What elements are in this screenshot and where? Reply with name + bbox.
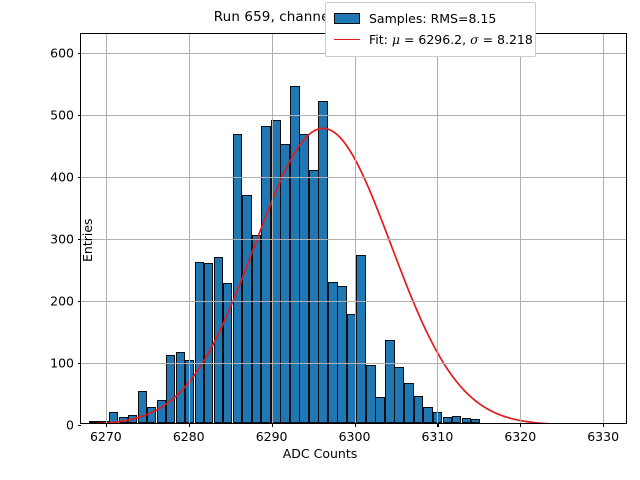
gridline-vertical (272, 34, 273, 423)
legend-swatch-samples-icon (334, 13, 360, 24)
legend-swatch-fit-icon (334, 39, 360, 40)
legend-label-fit: Fit: μ = 6296.2, σ = 8.218 (369, 32, 533, 47)
x-axis-tick (355, 423, 356, 427)
gridline-vertical (520, 34, 521, 423)
gridline-vertical (106, 34, 107, 423)
plot-area: Entries 01002003004005006006270628062906… (80, 33, 627, 424)
x-axis-tick (520, 423, 521, 427)
x-axis-tick (189, 423, 190, 427)
gridline-horizontal (81, 115, 626, 116)
y-axis-tick (78, 301, 82, 302)
x-axis-tick-label: 6290 (256, 429, 288, 444)
gridline-vertical (603, 34, 604, 423)
y-axis-tick-label: 300 (50, 231, 74, 246)
gridline-vertical (437, 34, 438, 423)
gridline-horizontal (81, 363, 626, 364)
y-axis-tick-label: 0 (66, 418, 74, 433)
y-axis-tick-label: 600 (50, 45, 74, 60)
y-axis-tick (78, 239, 82, 240)
matplotlib-figure: Run 659, channel011, Pedestal Entries 01… (0, 0, 640, 480)
x-axis-tick-label: 6310 (421, 429, 453, 444)
x-axis-tick (106, 423, 107, 427)
y-axis-tick-label: 400 (50, 169, 74, 184)
y-axis-tick (78, 425, 82, 426)
y-axis-tick (78, 53, 82, 54)
x-axis-tick (603, 423, 604, 427)
gridline-horizontal (81, 239, 626, 240)
x-axis-label: ADC Counts (0, 446, 640, 461)
chart-legend: Samples: RMS=8.15 Fit: μ = 6296.2, σ = 8… (325, 2, 536, 57)
gridline-horizontal (81, 177, 626, 178)
x-axis-tick-label: 6270 (90, 429, 122, 444)
gridline-vertical (189, 34, 190, 423)
gridline-horizontal (81, 301, 626, 302)
legend-entry-samples: Samples: RMS=8.15 (334, 8, 527, 29)
y-axis-tick (78, 177, 82, 178)
x-axis-tick (437, 423, 438, 427)
gaussian-fit-curve (81, 34, 626, 423)
x-axis-tick-label: 6300 (339, 429, 371, 444)
y-axis-tick-label: 200 (50, 293, 74, 308)
chart-title: Run 659, channel011, Pedestal (0, 9, 640, 25)
x-axis-tick-label: 6320 (504, 429, 536, 444)
y-axis-tick-label: 500 (50, 107, 74, 122)
x-axis-tick-label: 6280 (173, 429, 205, 444)
legend-entry-fit: Fit: μ = 6296.2, σ = 8.218 (334, 29, 527, 50)
legend-label-samples: Samples: RMS=8.15 (369, 11, 496, 26)
x-axis-tick-label: 6330 (587, 429, 619, 444)
plot-canvas (81, 34, 626, 423)
y-axis-tick (78, 363, 82, 364)
y-axis-label: Entries (80, 218, 95, 262)
x-axis-tick (272, 423, 273, 427)
y-axis-tick-label: 100 (50, 355, 74, 370)
gridline-vertical (355, 34, 356, 423)
y-axis-tick (78, 115, 82, 116)
